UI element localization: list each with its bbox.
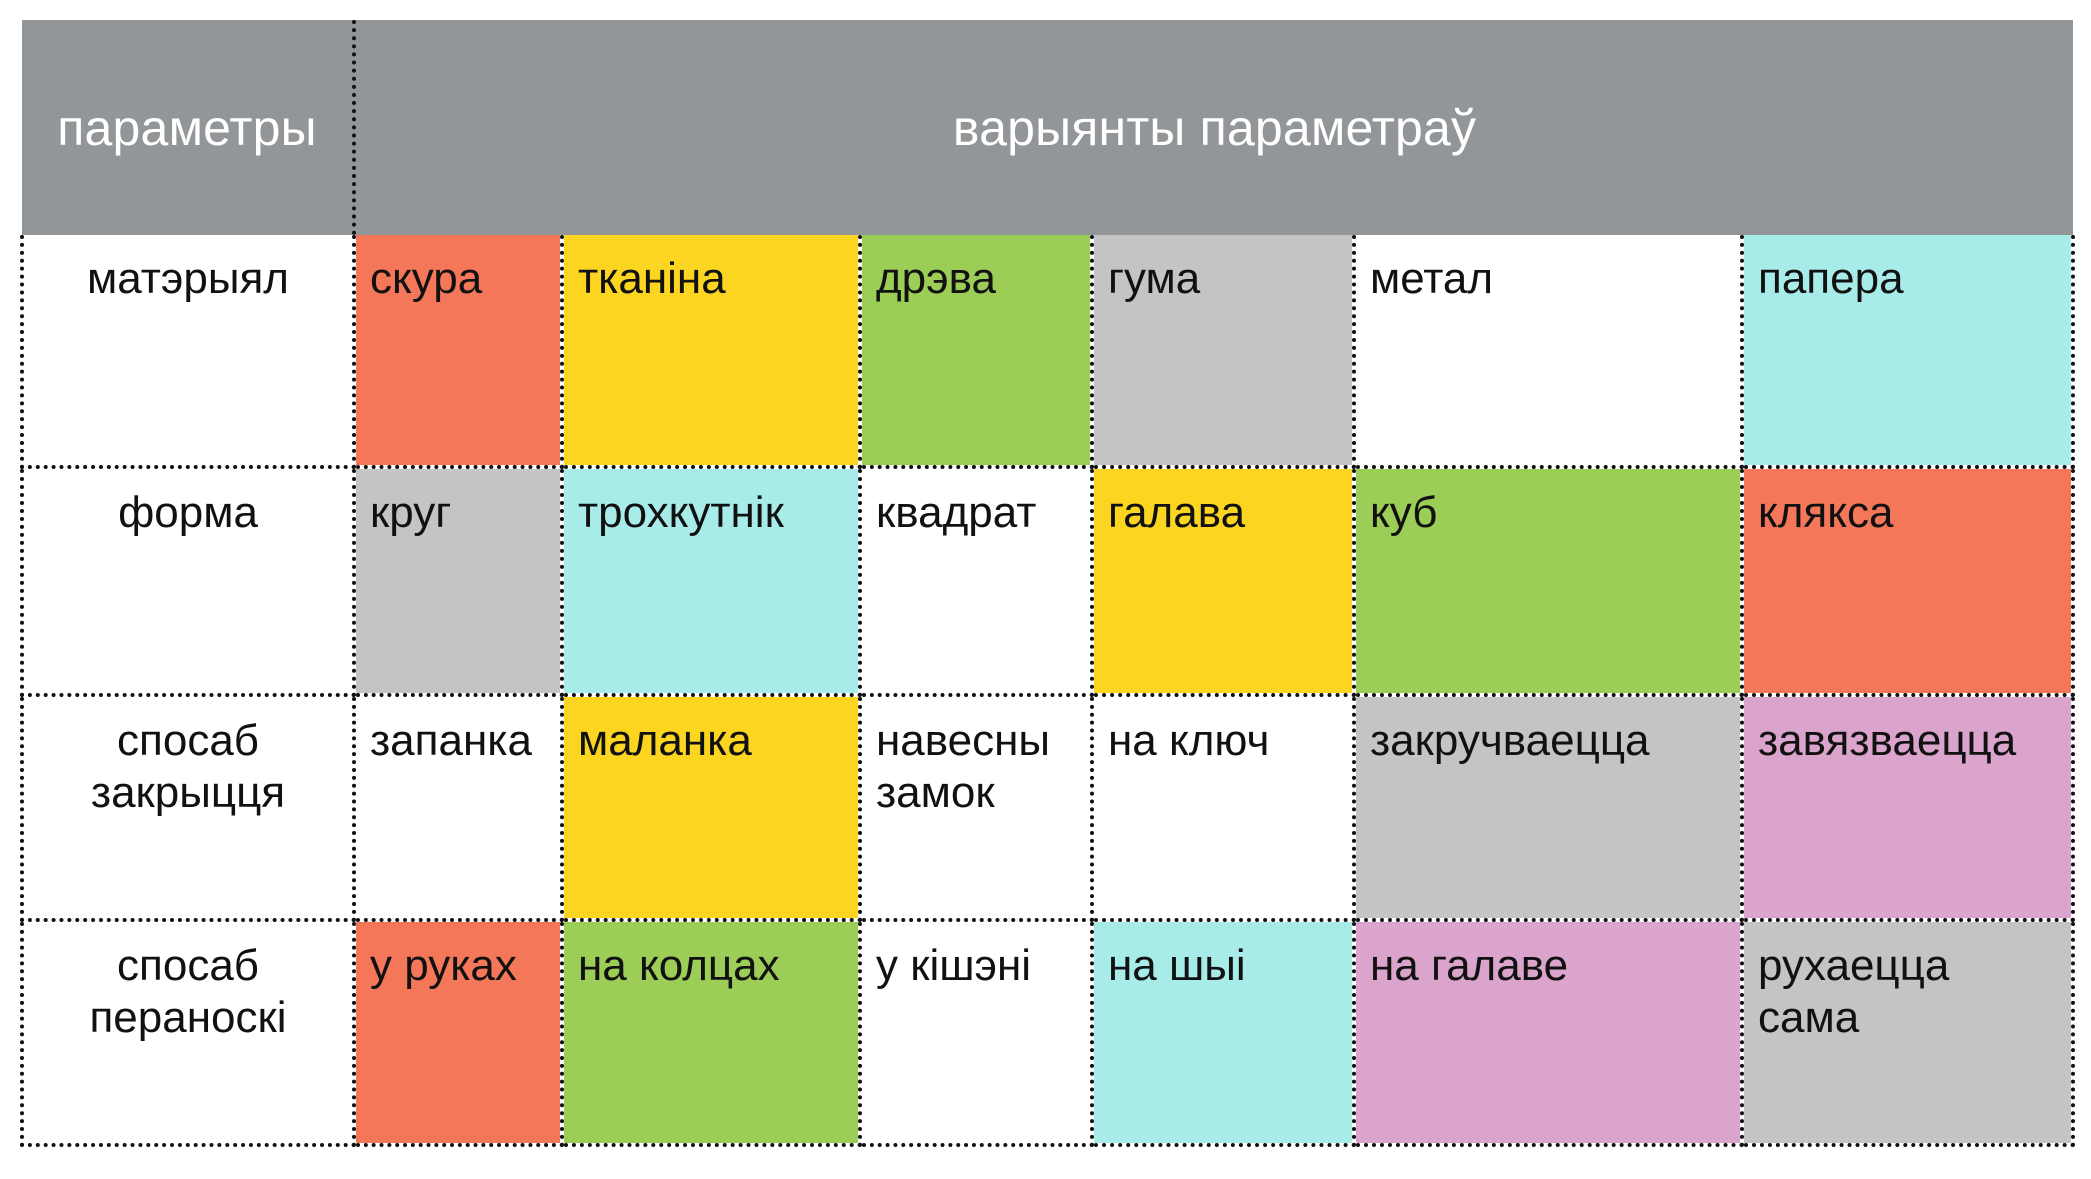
variant-cell-круг[interactable]: круг	[354, 467, 562, 695]
parameter-label-спосаб-закрыцця: спосабзакрыцця	[22, 695, 354, 920]
variant-cell-квадрат[interactable]: квадрат	[860, 467, 1092, 695]
variant-label-line: скура	[370, 253, 546, 305]
variant-cell-завязваецца[interactable]: завязваецца	[1742, 695, 2073, 920]
variant-cell-трохкутнік[interactable]: трохкутнік	[562, 467, 860, 695]
variant-label-line: дрэва	[876, 253, 1076, 305]
variant-label-line: маланка	[578, 715, 844, 767]
variant-cell-гума[interactable]: гума	[1092, 235, 1354, 467]
variant-cell-дрэва[interactable]: дрэва	[860, 235, 1092, 467]
variant-cell-папера[interactable]: папера	[1742, 235, 2073, 467]
variant-label-line: у кішэні	[876, 940, 1076, 992]
parameter-label-line: спосаб	[32, 940, 344, 992]
variant-label-line: гума	[1108, 253, 1338, 305]
morphological-table-sheet: параметры варыянты параметраў матэрыялск…	[0, 0, 2091, 1179]
table-row: спосабпераноскіу рукахна колцаху кішэнін…	[22, 920, 2073, 1145]
variant-label-line: на шыі	[1108, 940, 1338, 992]
variant-label-line: запанка	[370, 715, 546, 767]
parameter-label-line: закрыцця	[32, 767, 344, 819]
variant-label-line: метал	[1370, 253, 1726, 305]
parameter-label-спосаб-пераноскі: спосабпераноскі	[22, 920, 354, 1145]
variant-label-line: у руках	[370, 940, 546, 992]
variant-label-line: квадрат	[876, 487, 1076, 539]
variant-cell-тканіна[interactable]: тканіна	[562, 235, 860, 467]
variant-label-line: навесны	[876, 715, 1076, 767]
variant-cell-куб[interactable]: куб	[1354, 467, 1742, 695]
parameter-label-форма: форма	[22, 467, 354, 695]
variant-label-line: круг	[370, 487, 546, 539]
variant-cell-закручваецца[interactable]: закручваецца	[1354, 695, 1742, 920]
variant-cell-на-галаве[interactable]: на галаве	[1354, 920, 1742, 1145]
parameter-label-line: форма	[32, 487, 344, 539]
variant-label-line: тканіна	[578, 253, 844, 305]
variant-label-line: клякса	[1758, 487, 2057, 539]
variant-cell-на-шыі[interactable]: на шыі	[1092, 920, 1354, 1145]
variant-cell-клякса[interactable]: клякса	[1742, 467, 2073, 695]
variant-label-line: закручваецца	[1370, 715, 1726, 767]
variant-cell-на-ключ[interactable]: на ключ	[1092, 695, 1354, 920]
variant-cell-маланка[interactable]: маланка	[562, 695, 860, 920]
variant-cell-рухаецца-сама[interactable]: рухаеццасама	[1742, 920, 2073, 1145]
variant-cell-навесны-замок[interactable]: навеснызамок	[860, 695, 1092, 920]
variant-cell-на-колцах[interactable]: на колцах	[562, 920, 860, 1145]
header-parameter-variants: варыянты параметраў	[354, 20, 2073, 235]
variant-cell-скура[interactable]: скура	[354, 235, 562, 467]
variant-label-line: сама	[1758, 992, 2057, 1044]
parameter-label-line: спосаб	[32, 715, 344, 767]
variant-cell-галава[interactable]: галава	[1092, 467, 1354, 695]
parameter-label-матэрыял: матэрыял	[22, 235, 354, 467]
variant-cell-у-кішэні[interactable]: у кішэні	[860, 920, 1092, 1145]
variant-label-line: на колцах	[578, 940, 844, 992]
variant-cell-у-руках[interactable]: у руках	[354, 920, 562, 1145]
variant-label-line: замок	[876, 767, 1076, 819]
variant-label-line: папера	[1758, 253, 2057, 305]
table-row: спосабзакрыццязапанкамаланканавеснызамок…	[22, 695, 2073, 920]
parameter-label-line: матэрыял	[32, 253, 344, 305]
table-row: формакругтрохкутнікквадратгалавакубклякс…	[22, 467, 2073, 695]
parameter-label-line: пераноскі	[32, 992, 344, 1044]
variant-label-line: рухаецца	[1758, 940, 2057, 992]
header-parameters: параметры	[22, 20, 354, 235]
table-header: параметры варыянты параметраў	[22, 20, 2073, 235]
variant-cell-запанка[interactable]: запанка	[354, 695, 562, 920]
variant-label-line: куб	[1370, 487, 1726, 539]
variant-label-line: на галаве	[1370, 940, 1726, 992]
variant-label-line: завязваецца	[1758, 715, 2057, 767]
table-row: матэрыялскуратканінадрэвагумаметалпапера	[22, 235, 2073, 467]
table-body: матэрыялскуратканінадрэвагумаметалпапера…	[22, 235, 2073, 1145]
variant-label-line: на ключ	[1108, 715, 1338, 767]
morphological-analysis-table: параметры варыянты параметраў матэрыялск…	[20, 20, 2075, 1147]
variant-cell-метал[interactable]: метал	[1354, 235, 1742, 467]
variant-label-line: трохкутнік	[578, 487, 844, 539]
header-row: параметры варыянты параметраў	[22, 20, 2073, 235]
variant-label-line: галава	[1108, 487, 1338, 539]
